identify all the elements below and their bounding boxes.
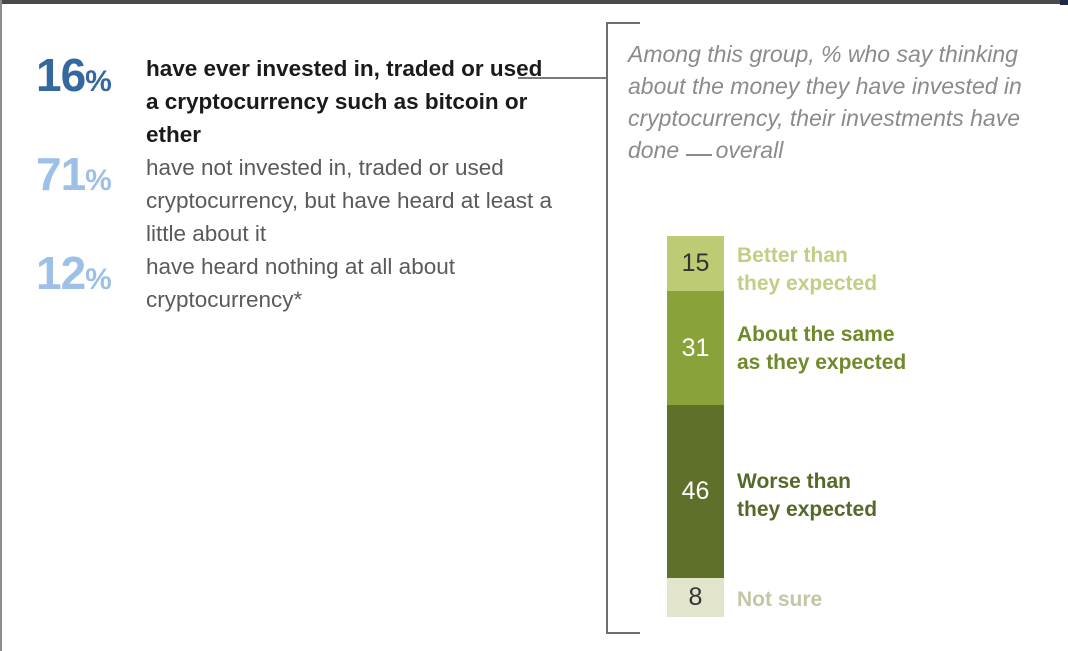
stat-percent: 71% [36, 151, 146, 197]
page-top-right-artifact [1060, 0, 1068, 5]
stat-percent-number: 12 [36, 247, 85, 299]
stat-percent: 12% [36, 250, 146, 296]
page-left-border [0, 0, 2, 651]
callout-heading: Among this group, % who say thinking abo… [628, 38, 1040, 166]
bar-segment-value: 31 [682, 336, 710, 361]
bar-segment-worse: 46 [667, 405, 724, 578]
stat-description: have heard nothing at all about cryptocu… [146, 250, 556, 316]
stat-percent-symbol: % [85, 263, 111, 296]
stat-percent-number: 16 [36, 49, 85, 101]
bar-segment-value: 8 [689, 585, 703, 610]
bracket-bottom-arm [606, 632, 640, 634]
bracket-top-arm [606, 22, 640, 24]
bar-label-better: Better than they expected [737, 242, 877, 298]
stat-row: 12% have heard nothing at all about cryp… [36, 250, 556, 316]
bar-segment-better: 15 [667, 236, 724, 291]
bar-segment-value: 46 [682, 479, 710, 504]
stat-description: have ever invested in, traded or used a … [146, 52, 556, 151]
stat-row: 16% have ever invested in, traded or use… [36, 52, 556, 151]
bracket-vertical-line [606, 22, 608, 634]
callout-heading-main: Among this group, % who say thinking abo… [628, 41, 1022, 163]
bar-label-not-sure: Not sure [737, 586, 822, 614]
stat-percent-symbol: % [85, 164, 111, 197]
bar-segment-value: 15 [682, 251, 710, 276]
callout-connector-line [518, 77, 608, 79]
stat-percent: 16% [36, 52, 146, 98]
callout-heading-tail: overall [716, 137, 784, 163]
stat-percent-symbol: % [85, 65, 111, 98]
bar-segment-about-the-same: 31 [667, 291, 724, 405]
bar-label-worse: Worse than they expected [737, 468, 877, 524]
stat-description: have not invested in, traded or used cry… [146, 151, 556, 250]
stacked-bar-chart: 15 31 46 8 [667, 236, 724, 617]
bar-label-about-the-same: About the same as they expected [737, 321, 906, 377]
fill-in-blank-underline [686, 154, 712, 156]
infographic-page: 16% have ever invested in, traded or use… [0, 0, 1068, 651]
page-top-edge-artifact [0, 0, 1068, 4]
statistics-list: 16% have ever invested in, traded or use… [36, 52, 556, 316]
stat-percent-number: 71 [36, 148, 85, 200]
stat-row: 71% have not invested in, traded or used… [36, 151, 556, 250]
bar-segment-not-sure: 8 [667, 578, 724, 617]
